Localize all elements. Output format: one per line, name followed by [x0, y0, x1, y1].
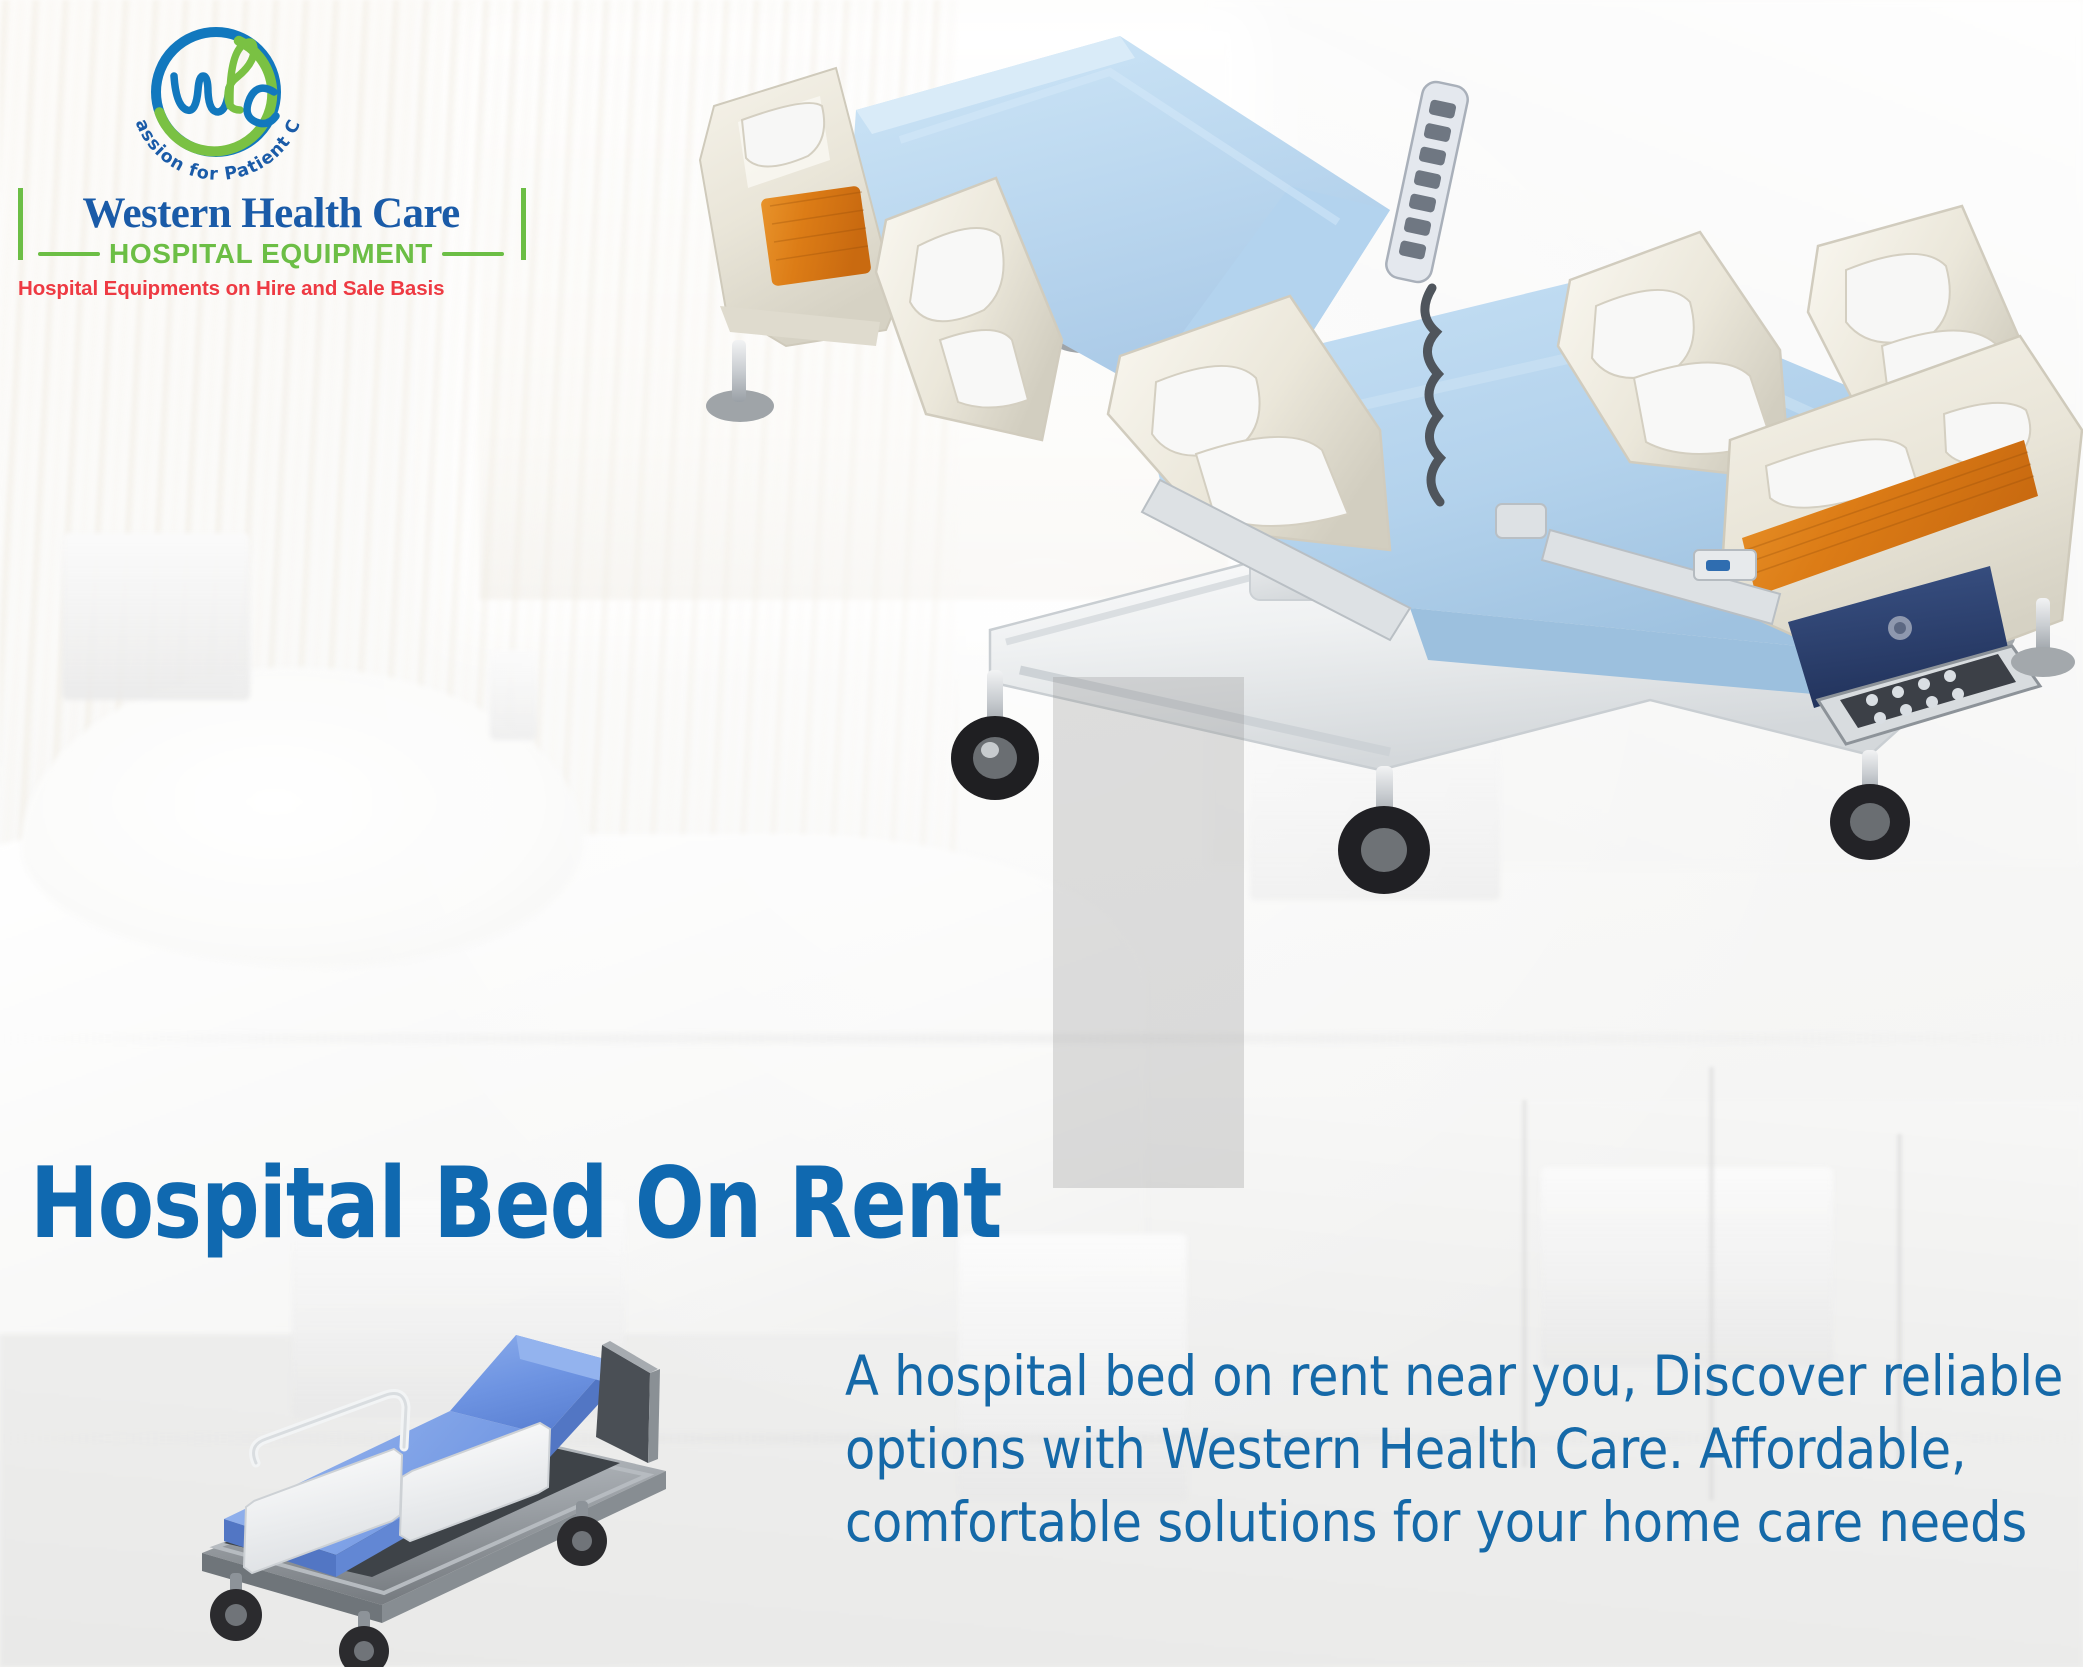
bracket-left-icon [18, 188, 23, 260]
bed-electronics-box [1694, 550, 1756, 580]
brand-name: Western Health Care [38, 192, 504, 235]
brand-subtitle: HOSPITAL EQUIPMENT [109, 240, 433, 268]
brand-wordmark: Western Health Care HOSPITAL EQUIPMENT H… [18, 192, 418, 301]
whc-monogram-icon: A Passion for Patient Care [118, 14, 318, 204]
bracket-right-icon [521, 188, 526, 260]
brand-logo[interactable]: A Passion for Patient Care Western Healt… [18, 14, 418, 301]
brand-rule-left [38, 252, 100, 256]
brand-rule-right [442, 252, 504, 256]
poster-canvas: A Passion for Patient Care Western Healt… [0, 0, 2083, 1667]
hero-hospital-bed-image [690, 10, 2083, 1130]
body-copy: A hospital bed on rent near you, Discove… [845, 1340, 2065, 1559]
brand-tagline: Hospital Equipments on Hire and Sale Bas… [18, 277, 418, 301]
mini-bed-headboard [596, 1341, 660, 1463]
page-title: Hospital Bed On Rent [30, 1155, 1001, 1253]
mini-hospital-bed-illustration [150, 1285, 730, 1667]
